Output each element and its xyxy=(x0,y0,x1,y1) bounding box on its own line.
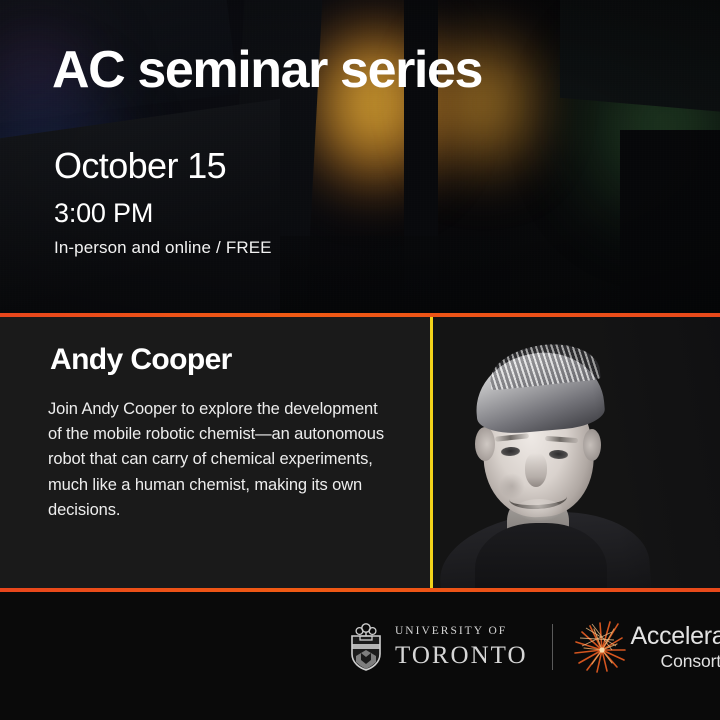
ac-line-consortium: Consortium xyxy=(631,653,720,671)
logo-row: UNIVERSITY OF TORONTO xyxy=(348,616,720,678)
ac-line-acceleration: Acceleration xyxy=(631,624,720,649)
portrait-chin xyxy=(515,499,563,521)
speaker-description: Join Andy Cooper to explore the developm… xyxy=(48,397,393,523)
divider-rule-vertical xyxy=(430,317,433,588)
uoft-crest-icon xyxy=(348,622,384,672)
page-title: AC seminar series xyxy=(52,44,482,96)
uoft-line-toronto: TORONTO xyxy=(395,643,528,668)
event-modality: In-person and online xyxy=(54,238,211,257)
acceleration-consortium-wordmark: Acceleration Consortium xyxy=(631,624,720,671)
banner-text-group: AC seminar series October 15 3:00 PM In-… xyxy=(52,0,672,313)
university-of-toronto-logo: UNIVERSITY OF TORONTO xyxy=(348,622,528,672)
event-modality-line: In-person and online/FREE xyxy=(54,239,272,256)
speaker-name: Andy Cooper xyxy=(50,345,232,375)
portrait-nose xyxy=(525,453,547,487)
portrait-ear-right xyxy=(583,429,601,461)
event-poster: AC seminar series October 15 3:00 PM In-… xyxy=(0,0,720,720)
speaker-portrait-image xyxy=(433,317,720,588)
uoft-line-university-of: UNIVERSITY OF xyxy=(395,626,507,638)
logo-separator xyxy=(552,624,553,670)
event-price: FREE xyxy=(226,238,272,257)
banner-hero: AC seminar series October 15 3:00 PM In-… xyxy=(0,0,720,313)
event-date: October 15 xyxy=(54,148,226,184)
speaker-section: Andy Cooper Join Andy Cooper to explore … xyxy=(0,317,720,588)
acceleration-consortium-logo: Acceleration Consortium xyxy=(572,620,720,674)
uoft-wordmark: UNIVERSITY OF TORONTO xyxy=(395,626,528,668)
event-time: 3:00 PM xyxy=(54,200,153,227)
speaker-portrait-panel xyxy=(433,317,720,588)
speaker-info-panel: Andy Cooper Join Andy Cooper to explore … xyxy=(0,317,430,588)
portrait-ear-left xyxy=(475,427,495,461)
footer-section: UNIVERSITY OF TORONTO xyxy=(0,592,720,720)
modality-separator: / xyxy=(211,238,226,257)
burst-icon xyxy=(572,620,628,674)
